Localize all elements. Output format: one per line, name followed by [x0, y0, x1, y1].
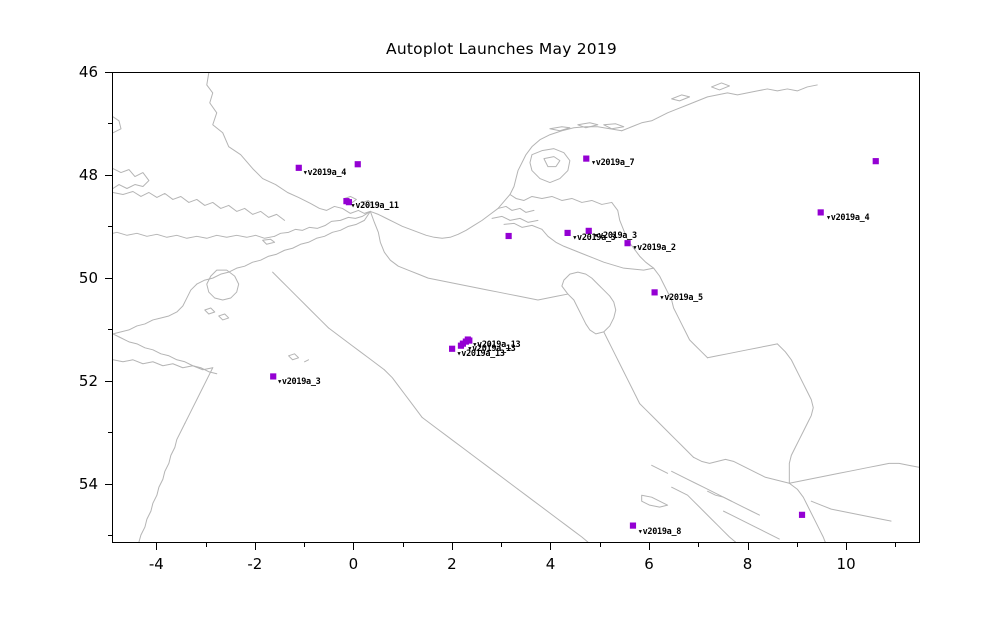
- y-tick-minor: [108, 432, 112, 433]
- y-tick-major: [105, 72, 112, 73]
- data-points-layer: [113, 73, 919, 542]
- x-tick-minor: [600, 543, 601, 547]
- y-tick-label: 50: [54, 269, 98, 287]
- figure-canvas: Autoplot Launches May 2019: [0, 0, 1003, 633]
- chart-title: Autoplot Launches May 2019: [0, 40, 1003, 58]
- x-tick-minor: [895, 543, 896, 547]
- data-point-marker: [506, 233, 512, 239]
- y-tick-label: 54: [54, 475, 98, 493]
- x-tick-major: [353, 543, 354, 550]
- y-tick-minor: [108, 123, 112, 124]
- x-tick-major: [452, 543, 453, 550]
- x-tick-minor: [304, 543, 305, 547]
- data-point-label: ▾v2019a_8: [638, 527, 681, 537]
- x-tick-minor: [206, 543, 207, 547]
- y-tick-label: 52: [54, 372, 98, 390]
- x-tick-minor: [403, 543, 404, 547]
- data-point-label: ▾v2019a_3: [593, 231, 636, 241]
- x-tick-major: [255, 543, 256, 550]
- x-tick-major: [649, 543, 650, 550]
- y-tick-label: 48: [54, 166, 98, 184]
- x-tick-label: 4: [520, 555, 580, 573]
- x-tick-major: [156, 543, 157, 550]
- data-point-marker: [458, 343, 464, 349]
- data-point-marker: [652, 289, 658, 295]
- data-point-label: ▾v2019a_4: [303, 168, 346, 178]
- x-tick-major: [748, 543, 749, 550]
- x-tick-label: -4: [126, 555, 186, 573]
- x-tick-minor: [797, 543, 798, 547]
- data-point-marker: [355, 161, 361, 167]
- y-tick-minor: [108, 329, 112, 330]
- x-tick-label: 2: [422, 555, 482, 573]
- x-tick-major: [846, 543, 847, 550]
- y-tick-minor: [108, 535, 112, 536]
- y-tick-major: [105, 484, 112, 485]
- x-tick-label: 0: [323, 555, 383, 573]
- data-point-marker: [270, 373, 276, 379]
- x-tick-label: 6: [619, 555, 679, 573]
- y-tick-major: [105, 175, 112, 176]
- data-point-label: ▾v2019a_2: [632, 243, 675, 253]
- data-point-label: ▾v2019a_3: [277, 377, 320, 387]
- data-point-label: ▾v2019a_4: [826, 213, 869, 223]
- data-point-marker: [296, 165, 302, 171]
- x-tick-minor: [501, 543, 502, 547]
- data-point-label: ▾v2019a_11: [351, 201, 399, 211]
- data-point-marker: [583, 156, 589, 162]
- data-point-marker: [873, 158, 879, 164]
- data-point-label: ▾v2019a_5: [659, 293, 702, 303]
- plot-area[interactable]: ▾v2019a_4▾v2019a_11▾v2019a_3▾v2019a_7▾v2…: [112, 72, 920, 543]
- data-point-marker: [630, 523, 636, 529]
- x-tick-major: [550, 543, 551, 550]
- y-tick-label: 46: [54, 63, 98, 81]
- y-tick-major: [105, 278, 112, 279]
- y-tick-minor: [108, 226, 112, 227]
- data-point-marker: [449, 346, 455, 352]
- data-point-marker: [565, 230, 571, 236]
- x-tick-label: 8: [718, 555, 778, 573]
- data-point-marker: [818, 209, 824, 215]
- data-point-label: ▾v2019a_13: [472, 340, 520, 350]
- x-tick-label: -2: [225, 555, 285, 573]
- y-tick-major: [105, 381, 112, 382]
- x-tick-label: 10: [816, 555, 876, 573]
- data-point-marker: [799, 512, 805, 518]
- data-point-label: ▾v2019a_7: [591, 158, 634, 168]
- x-tick-minor: [698, 543, 699, 547]
